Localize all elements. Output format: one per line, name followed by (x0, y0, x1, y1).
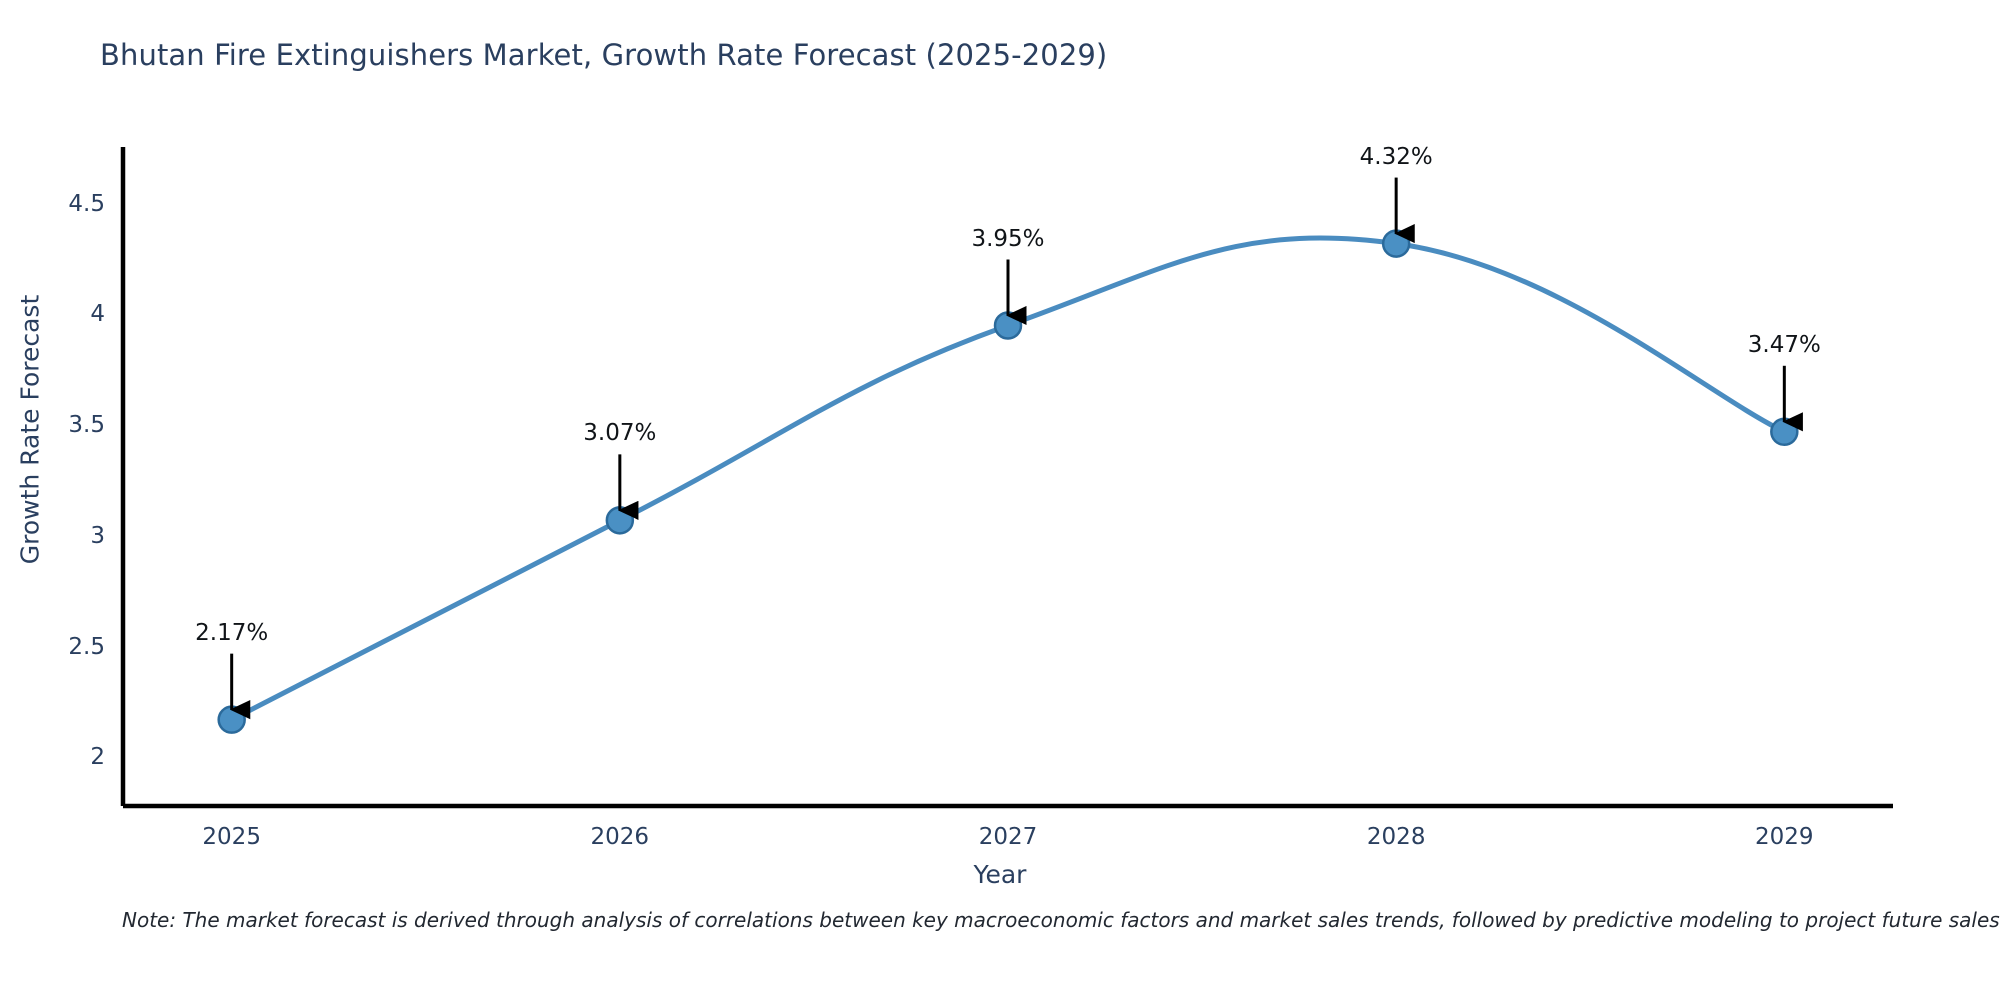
annotation-arrows (232, 178, 1785, 710)
y-tick-label: 4 (40, 301, 105, 327)
data-point-marker (995, 313, 1021, 339)
data-point-label: 2.17% (195, 620, 268, 646)
data-point-label: 3.07% (583, 420, 656, 446)
y-tick-label: 4.5 (40, 191, 105, 217)
y-tick-label: 2.5 (40, 634, 105, 660)
y-tick-label: 2 (40, 744, 105, 770)
x-tick-label: 2029 (1755, 824, 1814, 850)
chart-figure: Bhutan Fire Extinguishers Market, Growth… (0, 0, 2000, 1000)
plot-area (0, 0, 2000, 1000)
data-point-marker (607, 507, 633, 533)
y-tick-label: 3 (40, 523, 105, 549)
data-point-label: 4.32% (1360, 144, 1433, 170)
data-point-label: 3.95% (971, 226, 1044, 252)
x-tick-label: 2027 (979, 824, 1038, 850)
y-tick-label: 3.5 (40, 412, 105, 438)
x-tick-label: 2026 (591, 824, 650, 850)
x-tick-label: 2025 (202, 824, 261, 850)
data-point-label: 3.47% (1748, 332, 1821, 358)
data-point-marker (1771, 419, 1797, 445)
data-point-marker (219, 707, 245, 733)
x-tick-label: 2028 (1367, 824, 1426, 850)
data-point-marker (1383, 231, 1409, 257)
chart-footnote: Note: The market forecast is derived thr… (122, 908, 2000, 932)
